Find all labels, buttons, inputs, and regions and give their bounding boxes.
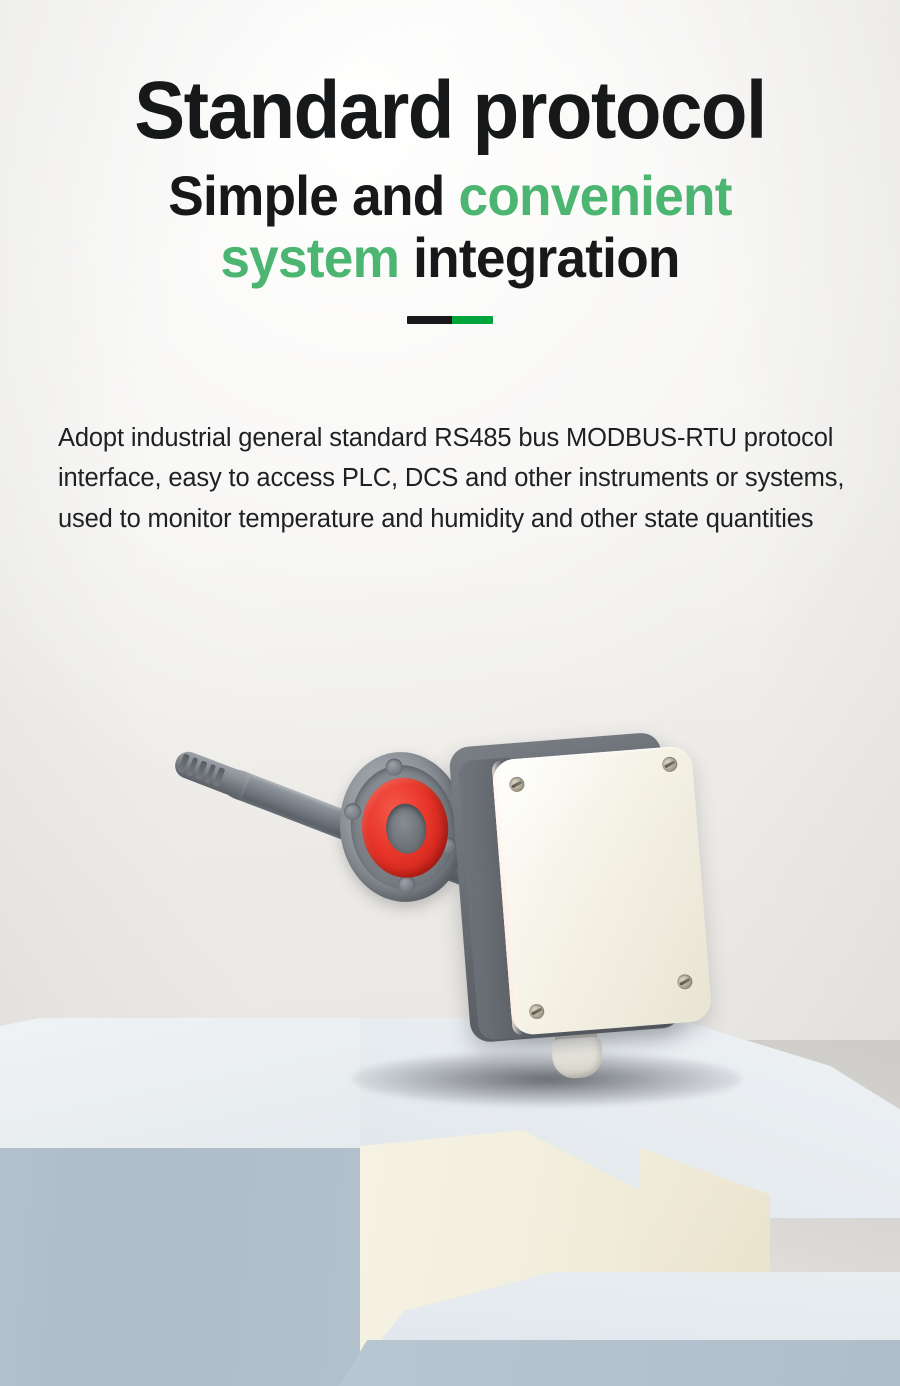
product-image xyxy=(150,700,770,1120)
page-title: Standard protocol xyxy=(32,0,869,151)
section-divider xyxy=(407,316,493,324)
subtitle-line-1: Simple and convenient xyxy=(168,164,731,227)
enclosure-screw xyxy=(509,776,525,792)
gasket-center-hole xyxy=(384,802,429,856)
divider-green-segment xyxy=(452,316,493,324)
subtitle-tail-text: integration xyxy=(399,226,680,289)
product-feature-banner: Standard protocol Simple and convenient … xyxy=(0,0,900,1386)
lower-podium-front-face xyxy=(330,1340,900,1386)
description-paragraph: Adopt industrial general standard RS485 … xyxy=(58,418,848,539)
upper-podium-front-face xyxy=(0,1148,370,1386)
enclosure-screw xyxy=(662,756,678,772)
subtitle-line-2: system integration xyxy=(220,226,679,289)
subtitle-accent-convenient: convenient xyxy=(458,164,731,227)
subtitle-lead-text: Simple and xyxy=(168,164,458,227)
page-subtitle: Simple and convenient system integration xyxy=(23,151,878,290)
enclosure-front-lid xyxy=(491,745,712,1036)
hero-text-block: Standard protocol Simple and convenient … xyxy=(0,0,900,324)
enclosure-screw xyxy=(529,1004,545,1020)
cable-gland-body xyxy=(551,1036,604,1079)
subtitle-accent-system: system xyxy=(220,226,399,289)
transmitter-enclosure xyxy=(451,739,717,1045)
divider-dark-segment xyxy=(407,316,452,324)
enclosure-screw xyxy=(677,974,693,990)
probe-filter-tip xyxy=(171,748,248,799)
enclosure-lid-sheen xyxy=(491,745,712,1036)
probe-vent-slots xyxy=(177,753,225,787)
